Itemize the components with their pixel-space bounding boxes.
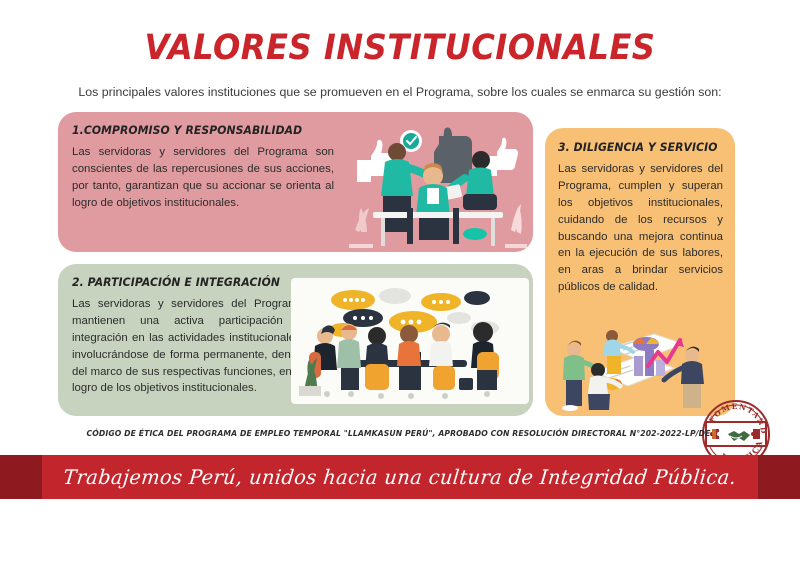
card1-heading: 1.COMPROMISO Y RESPONSABILIDAD [72, 123, 302, 137]
teamwork-thumbs-up-illustration [335, 112, 533, 252]
meeting-discussion-illustration [291, 278, 529, 404]
card3-body: Las servidoras y servidores del Programa… [558, 161, 723, 296]
card1-body: Las servidoras y servidores del Programa… [72, 144, 334, 212]
value-card-participacion: 2. PARTICIPACIÓN E INTEGRACIÓN Las servi… [58, 264, 533, 416]
page-title: VALORES INSTITUCIONALES [32, 28, 768, 68]
page-subtitle: Los principales valores instituciones qu… [0, 85, 800, 99]
infographic-page: VALORES INSTITUCIONALES Los principales … [0, 0, 800, 568]
card2-heading: 2. PARTICIPACIÓN E INTEGRACIÓN [72, 275, 280, 289]
slogan-text: Trabajemos Perú, unidos hacia una cultur… [62, 465, 737, 489]
footer-logos: PERÚ Ministerio de Trabajo y Promoción d… [0, 499, 800, 568]
card2-body: Las servidoras y servidores del Programa… [72, 296, 304, 397]
legal-caption: CÓDIGO DE ÉTICA DEL PROGRAMA DE EMPLEO T… [20, 428, 780, 438]
slogan-banner: Trabajemos Perú, unidos hacia una cultur… [0, 455, 800, 499]
value-card-compromiso: 1.COMPROMISO Y RESPONSABILIDAD Las servi… [58, 112, 533, 252]
value-card-diligencia: 3. DILIGENCIA Y SERVICIO Las servidoras … [545, 128, 735, 416]
card3-heading: 3. DILIGENCIA Y SERVICIO [558, 140, 718, 154]
